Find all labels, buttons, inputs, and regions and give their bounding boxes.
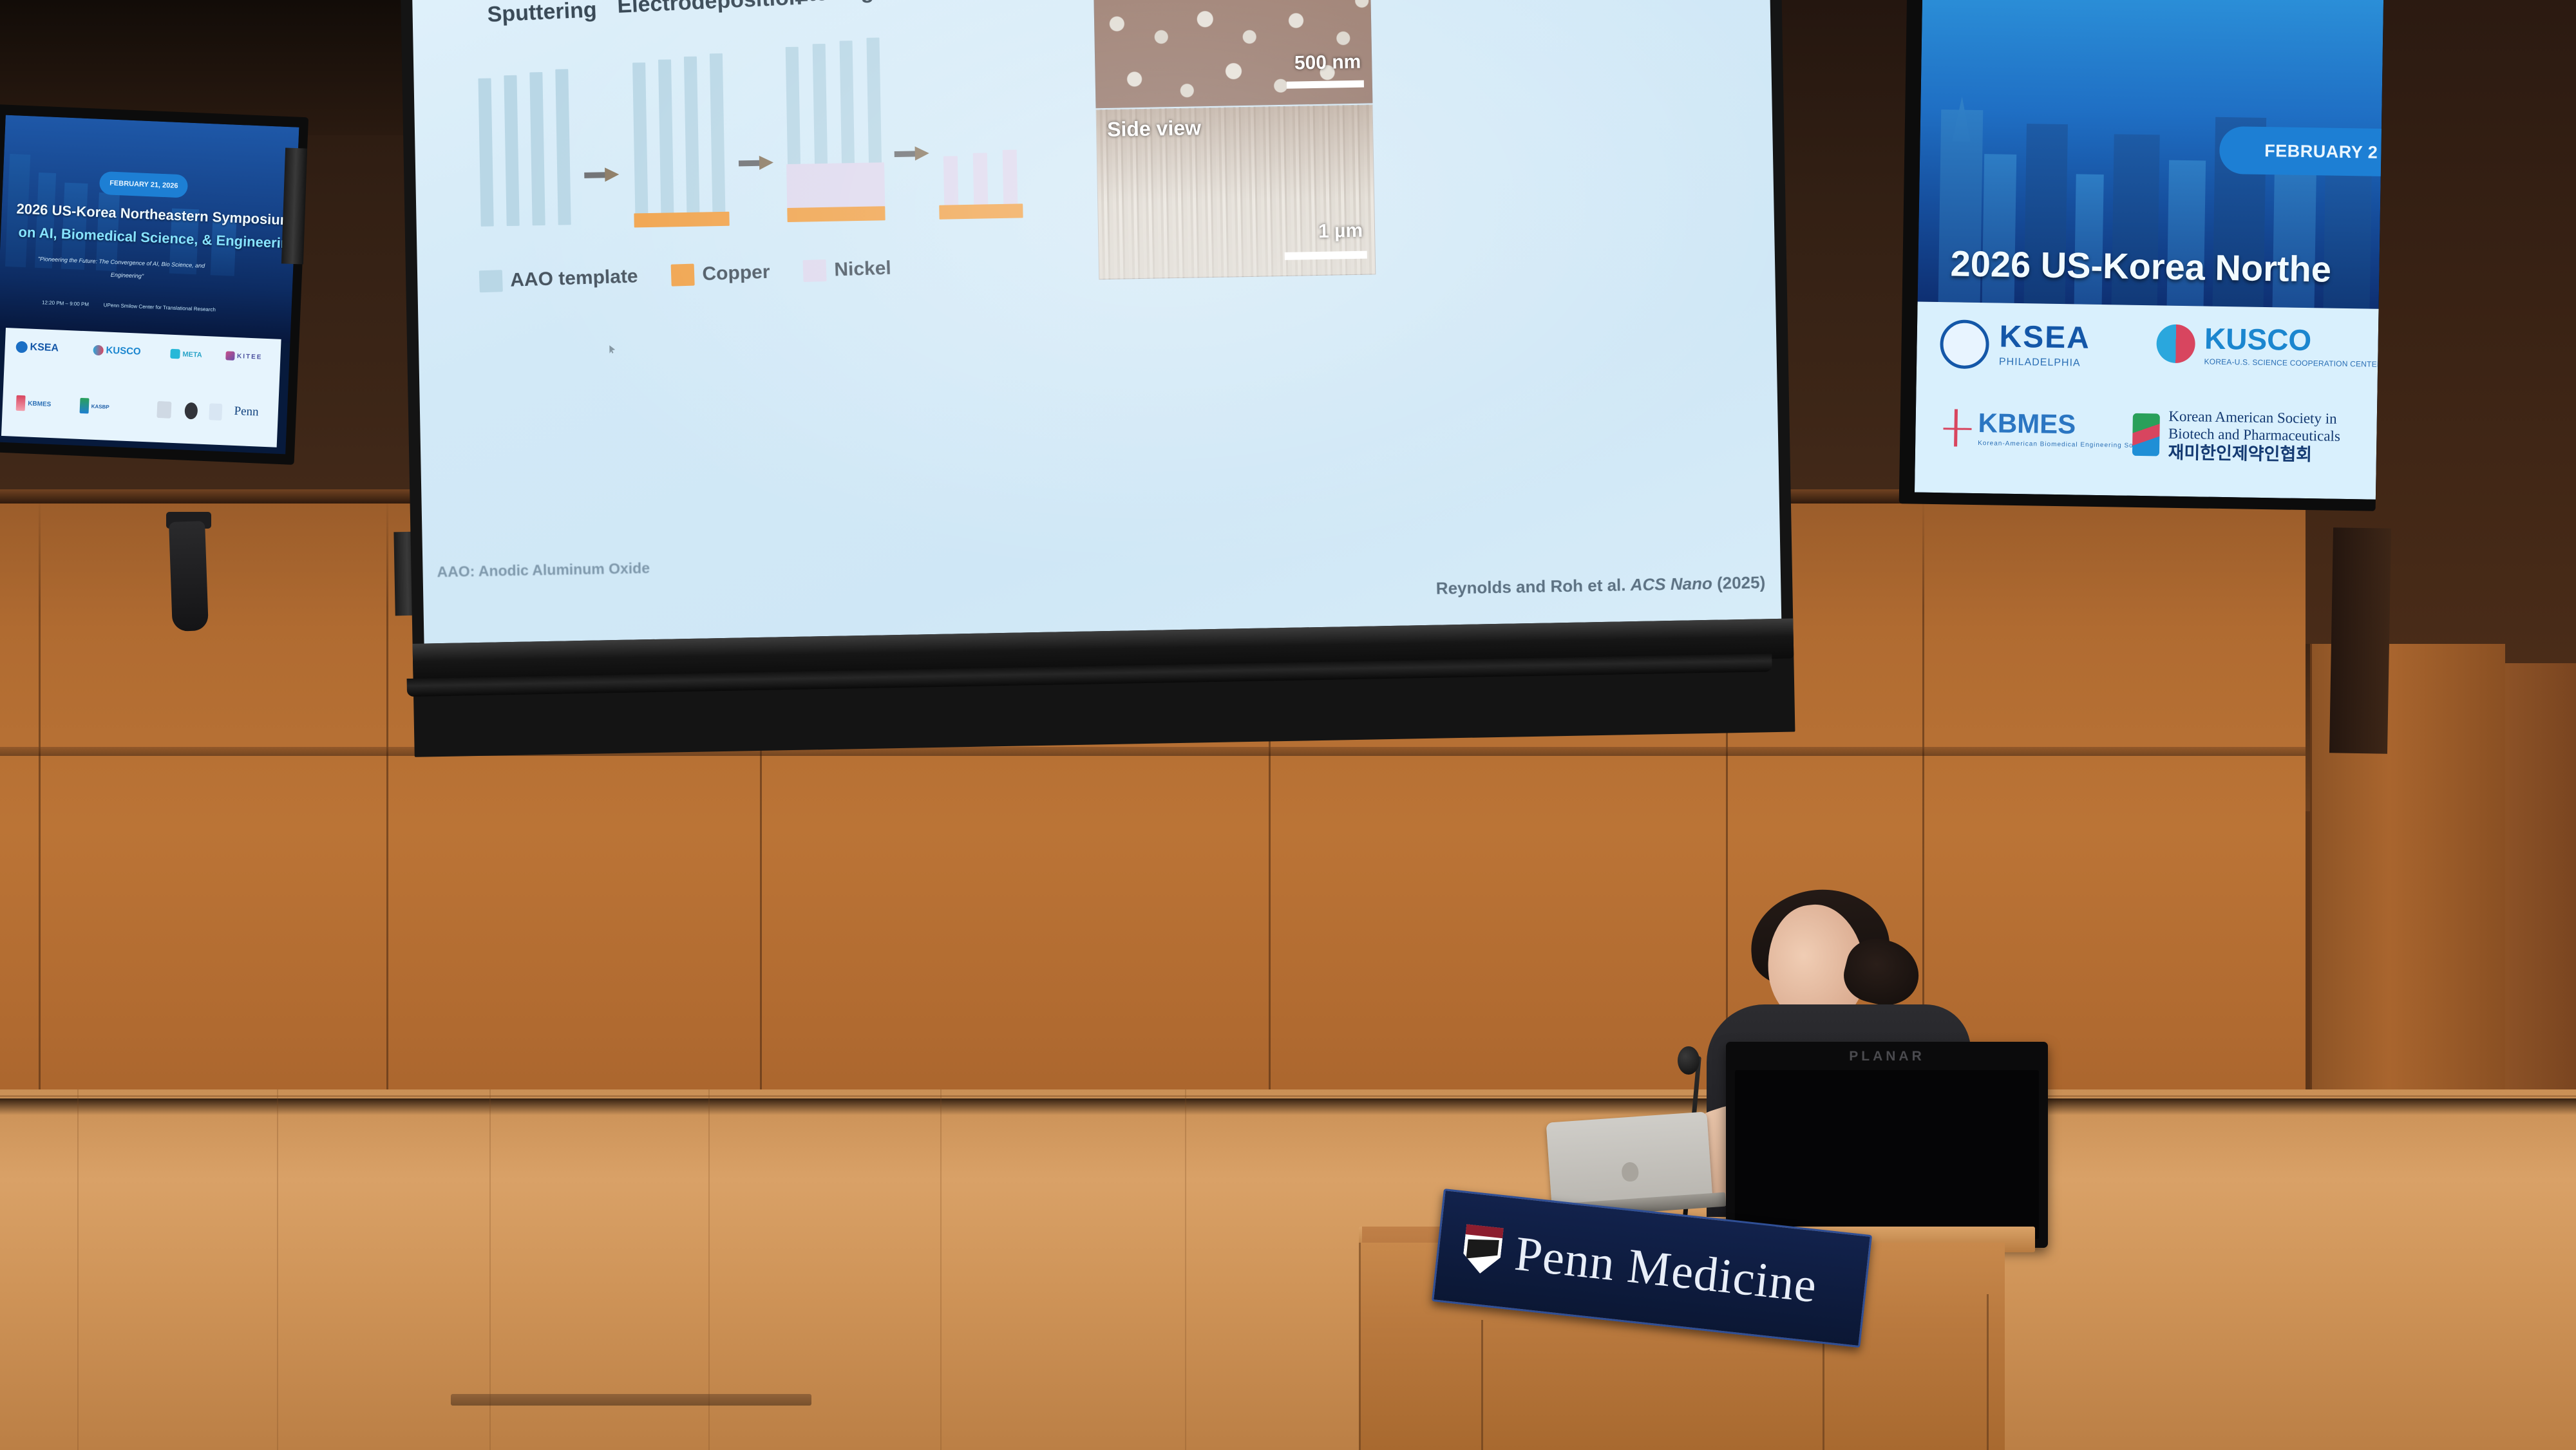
kasbp-mark-icon — [79, 398, 89, 414]
process-arrow-1 — [584, 169, 619, 181]
poster-sponsor-panel: KSEA PHILADELPHIA KUSCO KOREA-U.S. SCIEN… — [1915, 302, 2379, 500]
projected-slide: Sputtering Electrodeposition Etching — [412, 0, 1781, 643]
wall-sconce-light — [169, 521, 209, 632]
process-arrow-2 — [739, 156, 773, 169]
legend-swatch-copper — [671, 264, 695, 287]
wall-rail-mid — [0, 747, 2576, 756]
legend-item-nickel: Nickel — [803, 258, 891, 282]
aao-bar — [529, 72, 545, 225]
right-wall-monitor[interactable]: FEBRUARY 2 2026 US-Korea Northe on AI, B… — [1899, 0, 2384, 511]
penn-shield-icon — [1461, 1224, 1504, 1276]
sponsor-name: KSEA — [1999, 322, 2090, 354]
mini-sponsor-label: KUSCO — [106, 345, 141, 357]
floor-plank — [77, 1089, 79, 1450]
mini-sponsor-kitee: KITEE — [225, 351, 263, 361]
slide-content: Sputtering Electrodeposition Etching — [412, 0, 1781, 643]
scale-label-500nm: 500 nm — [1294, 52, 1361, 75]
monitor-display-area — [1735, 1070, 2039, 1239]
mini-sponsor-extra-c — [209, 403, 222, 420]
aao-bar — [658, 59, 674, 216]
sponsor-mark-icon — [184, 402, 198, 420]
nickel-nanowire — [1003, 150, 1018, 208]
podium-panel-seam — [1987, 1294, 1989, 1450]
sponsor-mark-icon — [156, 401, 171, 419]
mini-sponsor-kbmes: KBMES — [16, 395, 52, 412]
kusco-text: KUSCO KOREA-U.S. SCIENCE COOPERATION CEN… — [2204, 324, 2383, 368]
sponsor-sub-korean: 재미한인제약인협회 — [2168, 444, 2340, 464]
podium-sign-text: Penn Medicine — [1512, 1225, 1820, 1313]
nickel-nanowire — [943, 156, 958, 209]
legend-label-copper: Copper — [702, 261, 770, 285]
copper-seed-layer — [939, 203, 1023, 219]
slide-footnote: AAO: Anodic Aluminum Oxide — [437, 560, 650, 581]
mini-sponsor-label: KITEE — [237, 353, 263, 361]
left-wall-monitor[interactable]: FEBRUARY 21, 2026 2026 US-Korea Northeas… — [0, 104, 308, 465]
floor-plank — [277, 1089, 278, 1450]
projection-screen[interactable]: Sputtering Electrodeposition Etching — [401, 0, 1795, 757]
left-monitor-screen: FEBRUARY 21, 2026 2026 US-Korea Northeas… — [0, 115, 299, 455]
scale-bar-1um — [1285, 251, 1367, 260]
step-label-etching: Etching — [793, 0, 874, 8]
aao-bar — [504, 75, 519, 226]
sponsor-name: KBMES — [1978, 410, 2150, 439]
legend-swatch-nickel — [803, 259, 827, 282]
mini-sponsor-meta: META — [170, 349, 202, 360]
legend-item-aao: AAO template — [479, 265, 638, 292]
floor-shadow — [0, 1098, 2576, 1115]
citation-authors: Reynolds and Roh et al. — [1436, 575, 1631, 598]
kusco-mark-icon — [93, 345, 104, 356]
mini-tagline-line2: Engineering" — [111, 272, 144, 279]
right-monitor-screen: FEBRUARY 2 2026 US-Korea Northe on AI, B… — [1915, 0, 2383, 500]
monitor-brand-label: PLANAR — [1849, 1049, 1925, 1064]
sponsor-name: KUSCO — [2204, 324, 2383, 356]
slide-legend: AAO template Copper Nickel — [479, 258, 892, 293]
left-monitor-mount — [281, 147, 307, 264]
sponsor-name: Korean American Society in — [2168, 409, 2340, 426]
kusco-mark-icon — [2156, 325, 2195, 364]
mini-sponsor-ksea: KSEA — [15, 341, 59, 355]
kasbp-text: Korean American Society in Biotech and P… — [2168, 409, 2340, 464]
podium-confidence-monitor[interactable]: PLANAR — [1726, 1042, 2048, 1248]
podium-panel-seam — [1481, 1320, 1483, 1450]
step-label-electrodeposition: Electrodeposition — [617, 0, 803, 19]
mini-date-badge: FEBRUARY 21, 2026 — [99, 171, 188, 198]
skyline-building — [35, 173, 57, 268]
sponsor-mark-icon — [209, 403, 222, 420]
step-label-sputtering: Sputtering — [487, 0, 598, 28]
nickel-fill — [786, 162, 885, 211]
sponsor-sub: PHILADELPHIA — [1999, 357, 2090, 369]
mini-sponsor-extra-b — [184, 402, 198, 420]
copper-seed-layer — [634, 212, 729, 228]
kbmes-ecg-icon — [1943, 409, 1972, 447]
citation-journal: ACS Nano — [1630, 574, 1712, 594]
auditorium-scene: Sputtering Electrodeposition Etching — [0, 0, 2576, 1450]
sem-image-side-view: Side view 1 µm — [1096, 104, 1376, 279]
legend-item-copper: Copper — [671, 261, 770, 287]
mini-sponsor-label: META — [182, 350, 202, 359]
symposium-poster: FEBRUARY 2 2026 US-Korea Northe on AI, B… — [1915, 0, 2383, 500]
poster-date-badge: FEBRUARY 2 — [2219, 126, 2383, 177]
legend-label-nickel: Nickel — [834, 258, 891, 281]
legend-label-aao: AAO template — [510, 265, 638, 291]
mini-sponsor-label: Penn — [234, 404, 259, 420]
mini-sponsor-kasbp: KASBP — [79, 398, 109, 415]
mouse-cursor — [609, 345, 615, 353]
sponsor-ksea: KSEA PHILADELPHIA — [1940, 319, 2091, 371]
meta-mark-icon — [170, 349, 180, 359]
ksea-text: KSEA PHILADELPHIA — [1999, 322, 2090, 369]
legend-swatch-aao — [479, 270, 503, 292]
right-monitor-mount — [2329, 527, 2391, 754]
sem-image-top-view: 500 nm — [1093, 0, 1372, 108]
kbmes-text: KBMES Korean-American Biomedical Enginee… — [1978, 410, 2150, 449]
floor-plank — [940, 1089, 942, 1450]
mini-sponsor-extra-a — [156, 401, 171, 419]
scale-label-1um: 1 µm — [1318, 220, 1363, 243]
sponsor-kbmes: KBMES Korean-American Biomedical Enginee… — [1943, 409, 2150, 449]
sponsor-sub: Korean-American Biomedical Engineering S… — [1978, 440, 2150, 449]
floor-wall-seam — [0, 1095, 2576, 1097]
ksea-seal-icon — [1940, 319, 1989, 369]
floor — [0, 1089, 2576, 1450]
mini-sponsor-label: KSEA — [30, 342, 59, 355]
scale-bar-500nm — [1287, 80, 1364, 89]
slide-citation: Reynolds and Roh et al. ACS Nano (2025) — [1436, 572, 1766, 598]
aao-bar — [478, 78, 494, 226]
aao-bar — [684, 57, 700, 216]
aao-bar — [632, 62, 648, 217]
process-arrow-3 — [895, 147, 929, 160]
mini-sponsor-kusco: KUSCO — [93, 344, 141, 357]
kasbp-mark-icon — [2132, 413, 2159, 457]
floor-vent-grille — [451, 1394, 811, 1406]
sem-side-view-label: Side view — [1107, 116, 1201, 142]
mini-sponsor-label: KBMES — [28, 400, 52, 408]
sponsor-kusco: KUSCO KOREA-U.S. SCIENCE COOPERATION CEN… — [2156, 323, 2383, 368]
sponsor-sub: KOREA-U.S. SCIENCE COOPERATION CENTER — [2204, 358, 2382, 368]
floor-plank — [1185, 1089, 1186, 1450]
sponsor-kasbp: Korean American Society in Biotech and P… — [2132, 408, 2340, 464]
microphone-icon — [1678, 1046, 1700, 1075]
kitee-mark-icon — [225, 351, 235, 361]
citation-year: (2025) — [1712, 572, 1766, 593]
aao-bar — [710, 53, 726, 216]
ksea-mark-icon — [15, 341, 28, 353]
mini-sponsor-label: KASBP — [91, 403, 109, 410]
nickel-nanowire — [973, 153, 989, 208]
kbmes-mark-icon — [16, 395, 26, 411]
mini-sponsor-penn: Penn — [234, 404, 259, 420]
poster-title-line1: 2026 US-Korea Northe — [1950, 242, 2331, 290]
copper-seed-layer — [787, 206, 885, 222]
aao-bar — [555, 69, 571, 225]
mini-sponsor-bar: KSEA KUSCO META KITEE KBMES — [1, 328, 281, 447]
sponsor-sub: Biotech and Pharmaceuticals — [2168, 426, 2340, 444]
apple-logo-icon — [1621, 1162, 1639, 1182]
